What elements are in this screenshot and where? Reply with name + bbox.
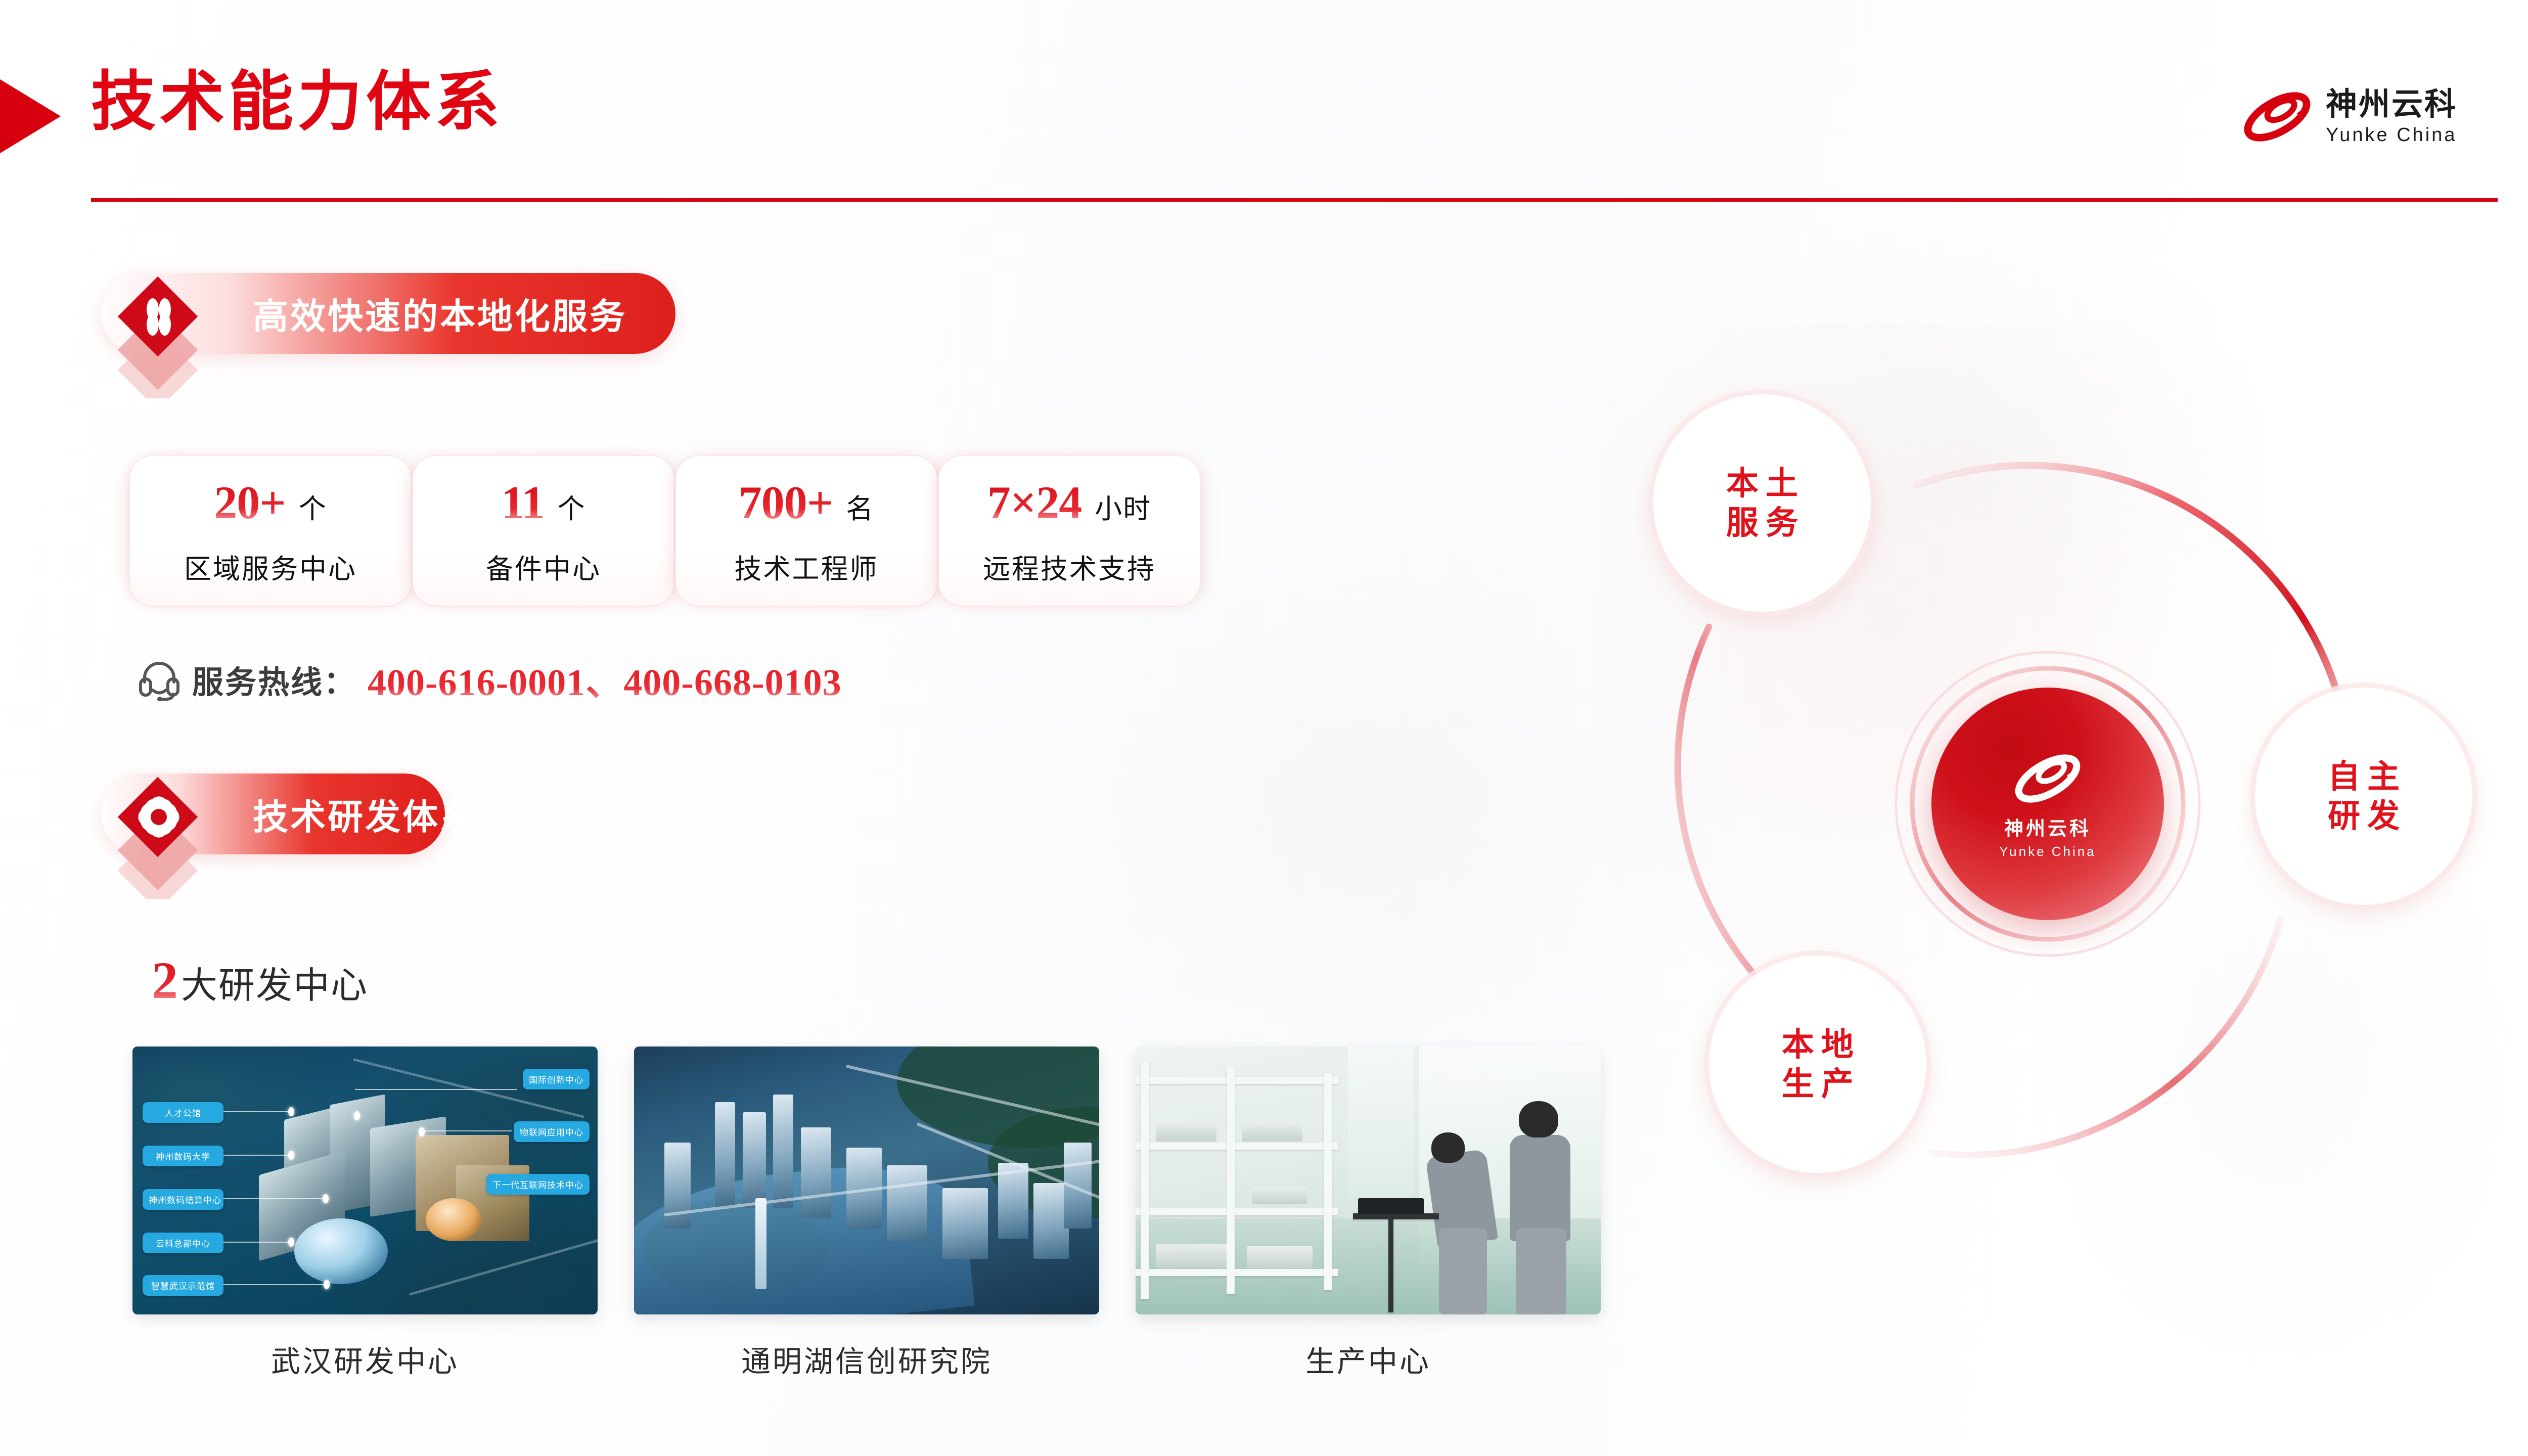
hub-name-cn: 神州云科 [2004,813,2091,841]
hotline-numbers[interactable]: 400-616-0001、400-668-0103 [368,652,842,706]
stat-card-list: 20+ 个 区域服务中心 11 个 备件中心 700+ 名 技术工程师 7×24… [129,455,1201,607]
rnd-gallery: 国际创新中心 人才公馆 神州数码大学 物联网应用中心 神州数码结算中心 下一代互… [132,1046,1601,1380]
map-label: 物联网应用中心 [514,1121,590,1142]
gear-diamond-icon [101,773,222,899]
hub-name-en: Yunke China [1999,844,2096,859]
gallery-caption: 武汉研发中心 [271,1338,459,1380]
node-label-line1: 本土 [1719,464,1805,503]
stat-label: 技术工程师 [735,547,879,586]
gallery-item[interactable]: 通明湖信创研究院 [634,1046,1099,1380]
stat-number: 11 [502,476,545,529]
gallery-item[interactable]: 国际创新中心 人才公馆 神州数码大学 物联网应用中心 神州数码结算中心 下一代互… [132,1046,598,1380]
hotline-label: 服务热线： [192,657,356,702]
section-label: 技术研发体系 [253,789,477,840]
map-label: 国际创新中心 [523,1069,590,1089]
tongminghu-aerial-image [634,1046,1099,1314]
capability-circle-diagram: 本土 服务 自主 研发 本地 生产 神州云科 Yunke China [1633,384,2523,1274]
stat-unit: 小时 [1095,486,1151,526]
section-header-rnd-system: 技术研发体系 [101,773,445,854]
wuhan-rnd-campus-image: 国际创新中心 人才公馆 神州数码大学 物联网应用中心 神州数码结算中心 下一代互… [132,1046,598,1314]
header-divider [91,198,2498,202]
diamond-stack-icon [101,273,222,398]
brand-name-cn: 神州云科 [2326,89,2457,120]
map-label: 神州数码大学 [143,1146,223,1166]
map-label: 神州数码结算中心 [143,1189,223,1210]
stat-card: 7×24 小时 远程技术支持 [938,455,1201,607]
diagram-hub: 神州云科 Yunke China [1931,688,2164,920]
rnd-count-text: 大研发中心 [181,955,368,1009]
map-label: 下一代互联网技术中心 [486,1174,590,1195]
stat-label: 区域服务中心 [184,547,357,586]
map-label: 人才公馆 [143,1102,223,1123]
diagram-node-self-rnd[interactable]: 自主 研发 [2255,688,2472,905]
rnd-count-number: 2 [152,950,178,1011]
stat-number: 700+ [739,476,833,529]
node-label-line1: 自主 [2321,757,2407,796]
stat-number: 20+ [214,476,285,529]
triangle-right-icon [0,77,61,156]
yunke-swirl-logo-icon [2010,748,2086,809]
stat-label: 备件中心 [486,547,601,586]
rnd-center-count: 2 大研发中心 [152,950,368,1011]
headset-icon [138,658,181,701]
stat-card: 700+ 名 技术工程师 [675,455,938,607]
page-title: 技术能力体系 [91,65,504,139]
stat-card: 11 个 备件中心 [412,455,675,607]
node-label-line1: 本地 [1775,1025,1861,1064]
stat-label: 远程技术支持 [983,547,1156,586]
service-hotline: 服务热线： 400-616-0001、400-668-0103 [138,652,842,706]
node-label-line2: 服务 [1719,503,1805,542]
stat-card: 20+ 个 区域服务中心 [129,455,412,607]
production-center-image [1136,1046,1601,1314]
stat-number: 7×24 [987,476,1081,529]
diagram-node-local-service[interactable]: 本土 服务 [1653,394,1871,612]
map-label: 云科总部中心 [143,1233,223,1253]
gallery-caption: 通明湖信创研究院 [741,1338,992,1380]
stat-unit: 个 [299,486,327,526]
stat-unit: 名 [846,486,874,526]
gallery-item[interactable]: 生产中心 [1136,1046,1601,1380]
node-label-line2: 研发 [2321,796,2407,836]
map-label: 智慧武汉示范馆 [143,1275,223,1296]
diagram-node-local-mfg[interactable]: 本地 生产 [1709,955,1926,1173]
brand-logo: 神州云科 Yunke China [2240,87,2457,147]
brand-name-en: Yunke China [2326,125,2457,145]
section-header-local-service: 高效快速的本地化服务 [101,273,675,354]
stat-unit: 个 [557,486,585,526]
node-label-line2: 生产 [1775,1064,1861,1104]
yunke-swirl-logo-icon [2240,87,2315,147]
gallery-caption: 生产中心 [1305,1338,1431,1380]
section-label: 高效快速的本地化服务 [253,288,627,339]
